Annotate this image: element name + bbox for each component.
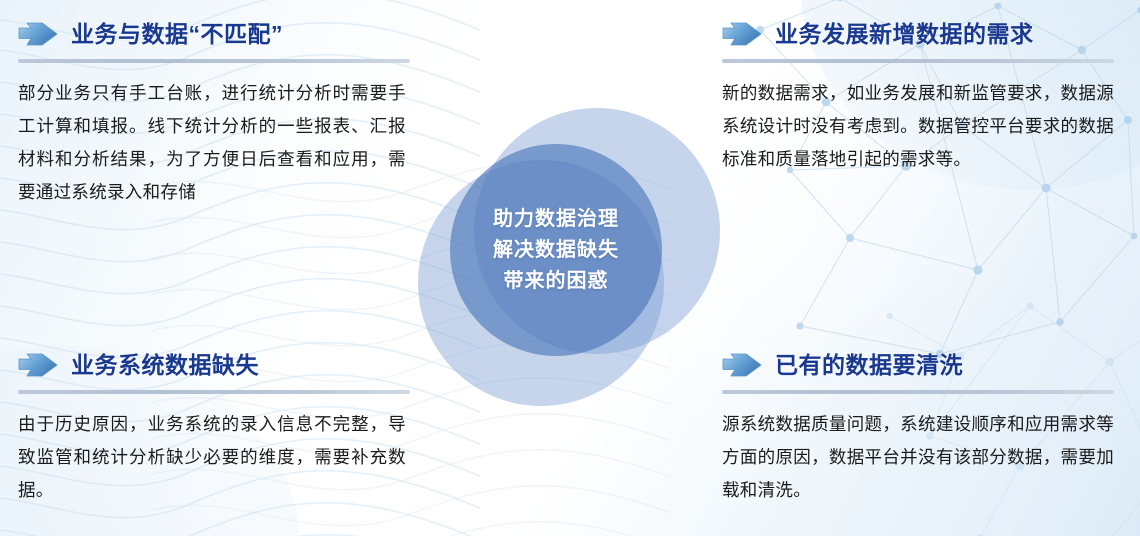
slide-canvas: 业务与数据“不匹配” 部分业务只有手工台账，进行统计分析时需要手工计算和填报。线… <box>0 0 1140 536</box>
panel-body-text: 新的数据需求，如业务发展和新监管要求，数据源系统设计时没有考虑到。数据管控平台要… <box>722 77 1114 176</box>
panel-divider <box>18 390 410 394</box>
panel-header: 已有的数据要清洗 <box>722 345 1122 385</box>
right-arrow-icon <box>18 21 58 47</box>
panel-divider <box>18 59 410 63</box>
panel-top-left: 业务与数据“不匹配” 部分业务只有手工台账，进行统计分析时需要手工计算和填报。线… <box>18 14 418 209</box>
center-caption-line-1: 助力数据治理 <box>493 207 619 232</box>
panel-title: 业务系统数据缺失 <box>71 354 259 377</box>
panel-header: 业务发展新增数据的需求 <box>722 14 1122 54</box>
right-arrow-icon <box>18 352 58 378</box>
panel-body-text: 源系统数据质量问题，系统建设顺序和应用需求等方面的原因，数据平台并没有该部分数据… <box>722 408 1114 507</box>
panel-divider <box>722 59 1114 63</box>
center-venn-graphic: 助力数据治理 解决数据缺失 带来的困惑 <box>404 108 736 408</box>
panel-bottom-left: 业务系统数据缺失 由于历史原因，业务系统的录入信息不完整，导致监管和统计分析缺少… <box>18 345 418 507</box>
panel-divider <box>722 390 1114 394</box>
center-caption-line-2: 解决数据缺失 <box>493 238 619 263</box>
panel-title: 已有的数据要清洗 <box>775 354 963 377</box>
panel-title: 业务发展新增数据的需求 <box>775 23 1034 46</box>
panel-top-right: 业务发展新增数据的需求 新的数据需求，如业务发展和新监管要求，数据源系统设计时没… <box>722 14 1122 176</box>
panel-header: 业务系统数据缺失 <box>18 345 418 385</box>
center-caption: 助力数据治理 解决数据缺失 带来的困惑 <box>450 144 662 356</box>
panel-bottom-right: 已有的数据要清洗 源系统数据质量问题，系统建设顺序和应用需求等方面的原因，数据平… <box>722 345 1122 507</box>
right-arrow-icon <box>722 21 762 47</box>
center-caption-line-3: 带来的困惑 <box>504 269 609 294</box>
panel-title: 业务与数据“不匹配” <box>71 23 283 46</box>
panel-header: 业务与数据“不匹配” <box>18 14 418 54</box>
panel-body-text: 由于历史原因，业务系统的录入信息不完整，导致监管和统计分析缺少必要的维度，需要补… <box>18 408 406 507</box>
panel-body-text: 部分业务只有手工台账，进行统计分析时需要手工计算和填报。线下统计分析的一些报表、… <box>18 77 406 209</box>
